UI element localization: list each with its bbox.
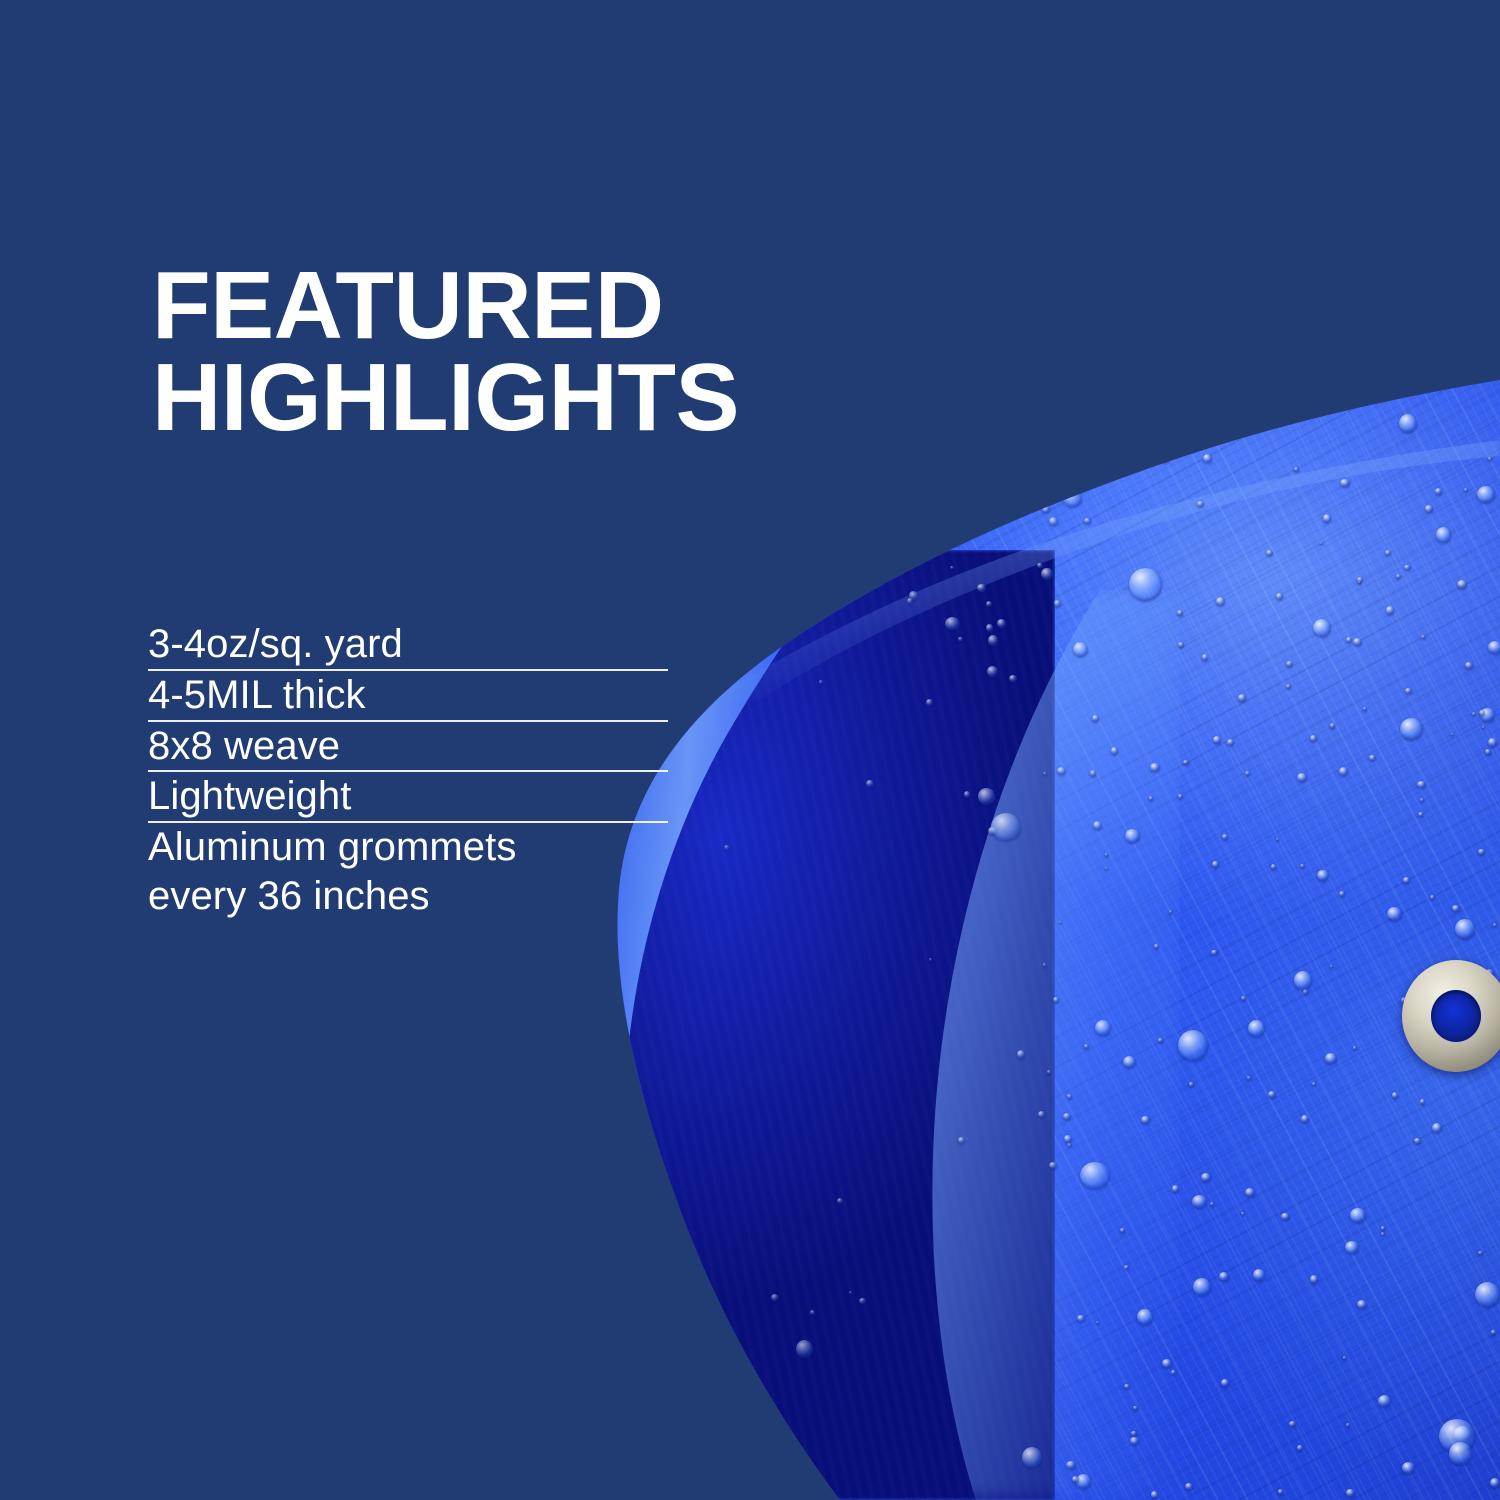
- water-droplet: [522, 956, 526, 960]
- list-item: 3-4oz/sq. yard: [148, 620, 668, 669]
- water-droplet: [920, 432, 928, 440]
- water-droplet: [1178, 414, 1182, 418]
- spec-label-weave: 8x8 weave: [148, 722, 668, 771]
- list-item: 4-5MIL thick: [148, 671, 668, 720]
- water-droplet: [996, 430, 1005, 438]
- water-droplet: [1186, 401, 1190, 404]
- infographic-canvas: FEATURED HIGHLIGHTS 3-4oz/sq. yard 4-5MI…: [0, 0, 1500, 1500]
- spec-label-weight: 3-4oz/sq. yard: [148, 620, 668, 669]
- water-droplet: [544, 1106, 553, 1115]
- water-droplet: [1062, 433, 1068, 439]
- page-title: FEATURED HIGHLIGHTS: [152, 260, 912, 444]
- spec-label-thickness: 4-5MIL thick: [148, 671, 668, 720]
- list-item: Aluminum grommets every 36 inches: [148, 823, 668, 921]
- water-droplet: [1236, 386, 1243, 393]
- water-droplet: [599, 1433, 608, 1441]
- water-droplet: [489, 1026, 497, 1035]
- spec-label-grommets: Aluminum grommets every 36 inches: [148, 823, 668, 921]
- list-item: 8x8 weave: [148, 722, 668, 771]
- water-droplet: [1163, 446, 1171, 453]
- water-droplet: [1096, 384, 1103, 391]
- water-droplet: [622, 1066, 631, 1075]
- aluminum-grommet-icon: [1402, 960, 1500, 1072]
- water-droplet: [1024, 491, 1032, 498]
- water-droplet: [973, 460, 982, 469]
- water-droplet: [943, 523, 951, 530]
- spec-label-lightweight: Lightweight: [148, 772, 668, 821]
- featured-highlights-list: 3-4oz/sq. yard 4-5MIL thick 8x8 weave Li…: [148, 620, 668, 921]
- water-droplet: [1205, 388, 1212, 395]
- rolled-tarp-image: [480, 380, 1500, 1500]
- water-droplet: [983, 447, 998, 460]
- list-item: Lightweight: [148, 772, 668, 821]
- water-droplet: [832, 603, 839, 610]
- water-droplet: [651, 516, 655, 520]
